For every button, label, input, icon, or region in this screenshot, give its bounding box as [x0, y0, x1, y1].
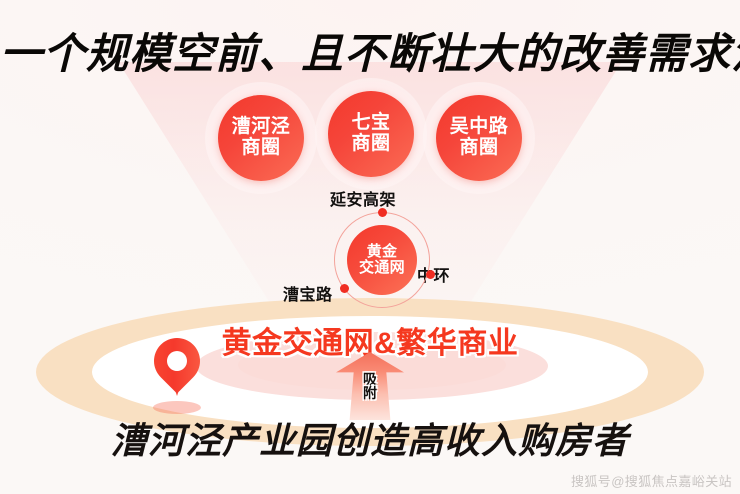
arrow-label-char-1: 吸	[363, 372, 377, 386]
road-label-yanan-elevated: 延安高架	[330, 186, 396, 210]
arrow-label-char-2: 附	[363, 386, 377, 400]
district-label-line2: 商圈	[351, 134, 390, 155]
district-bubble-core: 吴中路 商圈	[436, 95, 522, 181]
infographic-poster: 一个规模空前、且不断壮大的改善需求池 漕河泾 商圈 七宝 商圈 吴中路 商圈 延…	[0, 0, 740, 494]
up-arrow-icon: 吸 附	[336, 352, 404, 420]
district-label-line1: 吴中路	[450, 117, 509, 138]
district-label-line2: 商圈	[459, 138, 498, 159]
district-label-line1: 七宝	[351, 113, 390, 134]
arrow-label: 吸 附	[360, 372, 380, 400]
district-bubble-wuzhonglu[interactable]: 吴中路 商圈	[423, 82, 535, 194]
golden-traffic-hub[interactable]: 黄金 交通网	[334, 212, 430, 308]
district-bubble-group: 漕河泾 商圈 七宝 商圈 吴中路 商圈	[0, 0, 740, 180]
road-label-caobao-road: 漕宝路	[283, 281, 333, 305]
hub-label-line2: 交通网	[359, 260, 405, 277]
district-label-line1: 漕河泾	[232, 117, 291, 138]
footer-headline: 漕河泾产业园创造高收入购房者	[0, 412, 740, 464]
orbit-dot-top-icon	[378, 208, 387, 217]
watermark: 搜狐号@搜狐焦点嘉峪关站	[571, 471, 732, 490]
location-pin-icon	[146, 338, 208, 414]
hub-core: 黄金 交通网	[347, 225, 417, 295]
district-bubble-qibao[interactable]: 七宝 商圈	[315, 78, 427, 190]
hub-label-line1: 黄金	[367, 244, 398, 261]
orbit-dot-bottom-left-icon	[340, 284, 349, 293]
district-bubble-core: 漕河泾 商圈	[218, 95, 304, 181]
district-bubble-caohejing[interactable]: 漕河泾 商圈	[205, 82, 317, 194]
district-bubble-core: 七宝 商圈	[328, 91, 414, 177]
orbit-dot-right-icon	[426, 270, 435, 279]
pin-head	[144, 328, 209, 393]
district-label-line2: 商圈	[241, 138, 280, 159]
